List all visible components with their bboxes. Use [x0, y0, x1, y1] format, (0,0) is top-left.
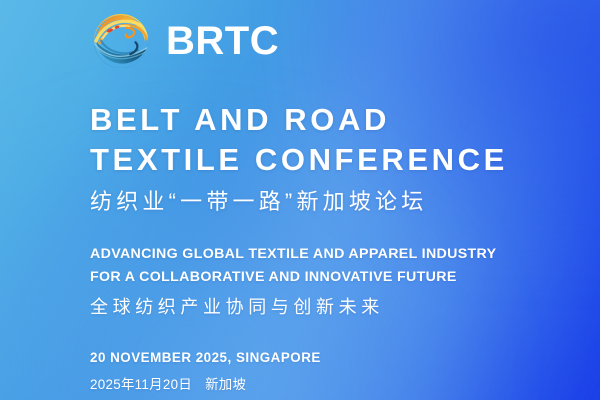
- tagline-line-2: FOR A COLLABORATIVE AND INNOVATIVE FUTUR…: [90, 266, 600, 289]
- headline-chinese: 纺织业“一带一路”新加坡论坛: [90, 188, 600, 217]
- tagline-line-1: ADVANCING GLOBAL TEXTILE AND APPAREL IND…: [90, 243, 600, 266]
- tagline: ADVANCING GLOBAL TEXTILE AND APPAREL IND…: [90, 243, 600, 289]
- tagline-chinese: 全球纺织产业协同与创新未来: [90, 296, 600, 319]
- brtc-swirl-logo-icon: [88, 8, 154, 74]
- brand-wordmark: BRTC: [166, 21, 279, 61]
- page-title: BELT AND ROAD TEXTILE CONFERENCE: [90, 100, 600, 179]
- event-details: 20 NOVEMBER 2025, SINGAPORE 2025年11月20日 …: [90, 349, 600, 393]
- brand-lockup: BRTC: [88, 0, 600, 74]
- poster-content: BRTC BELT AND ROAD TEXTILE CONFERENCE 纺织…: [0, 0, 600, 400]
- event-date-chinese: 2025年11月20日: [90, 377, 192, 392]
- headline-line-2: TEXTILE CONFERENCE: [90, 140, 600, 180]
- event-location-chinese: 新加坡: [205, 377, 246, 392]
- headline-line-1: BELT AND ROAD: [90, 100, 600, 140]
- conference-poster: BRTC BELT AND ROAD TEXTILE CONFERENCE 纺织…: [0, 0, 600, 400]
- event-date-english: 20 NOVEMBER 2025, SINGAPORE: [90, 349, 600, 366]
- event-date-chinese-row: 2025年11月20日 新加坡: [90, 376, 600, 393]
